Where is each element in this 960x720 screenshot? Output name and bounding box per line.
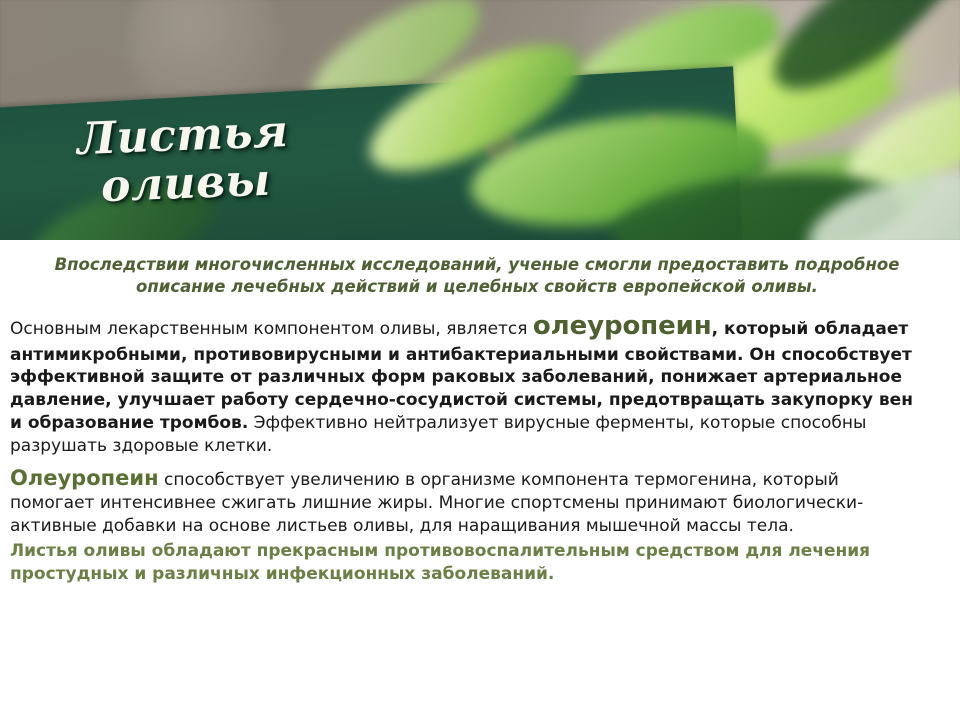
keyword-oleuropein-secondary: Олеуропеин: [10, 466, 159, 490]
closing-text: Листья оливы обладают прекрасным противо…: [10, 541, 870, 584]
article-lede: Впоследствии многочисленных исследований…: [34, 254, 920, 298]
paragraph-1-run-regular: Основным лекарственным компонентом оливы…: [10, 319, 533, 339]
closing-paragraph: Листья оливы обладают прекрасным противо…: [10, 540, 926, 586]
keyword-oleuropein-primary: олеуропеин: [533, 311, 712, 341]
paragraph-1: Основным лекарственным компонентом оливы…: [10, 309, 926, 458]
article-body: Впоследствии многочисленных исследований…: [0, 240, 938, 585]
paragraph-2: Олеуропеин способствует увеличению в орг…: [10, 464, 926, 538]
article-page: Листья оливы Впоследствии многочисленных…: [0, 0, 960, 720]
hero-photo: Листья оливы: [0, 0, 960, 240]
